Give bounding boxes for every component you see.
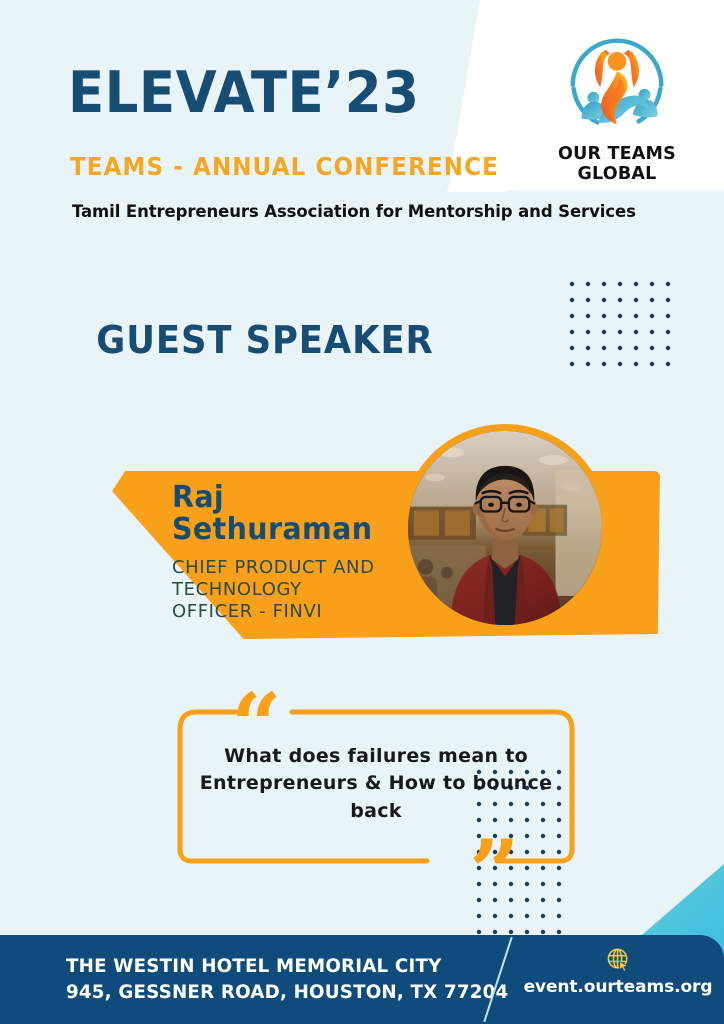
event-full-name: Tamil Entrepreneurs Association for Ment… (72, 202, 636, 221)
event-poster: ELEVATE’23 TEAMS - ANNUAL CONFERENCE Tam… (0, 0, 724, 1024)
speaker-last-name: Sethuraman (172, 512, 372, 547)
venue-name: THE WESTIN HOTEL MEMORIAL CITY (66, 955, 441, 977)
logo-text: OUR TEAMS GLOBAL (517, 144, 717, 184)
venue-address: THE WESTIN HOTEL MEMORIAL CITY 945, GESS… (66, 953, 508, 1005)
speaker-photo-image (408, 431, 602, 625)
website-url[interactable]: event.ourteams.org (518, 977, 718, 997)
quote-close-mark: ” (469, 828, 520, 916)
speaker-role: CHIEF PRODUCT AND TECHNOLOGY OFFICER - F… (172, 557, 387, 623)
our-teams-global-logo-icon (558, 24, 676, 142)
event-subtitle: TEAMS - ANNUAL CONFERENCE (70, 152, 499, 181)
guest-speaker-heading: GUEST SPEAKER (19, 318, 512, 362)
poster-footer: THE WESTIN HOTEL MEMORIAL CITY 945, GESS… (0, 935, 724, 1024)
speaker-first-name: Raj (172, 480, 224, 515)
footer-website-block[interactable]: event.ourteams.org (518, 947, 718, 997)
speaker-name: Raj Sethuraman (172, 482, 372, 547)
dot-grid-top-right (569, 281, 689, 381)
quote-text: What does failures mean to Entrepreneurs… (191, 743, 561, 825)
globe-cursor-icon (605, 947, 632, 974)
organization-logo: OUR TEAMS GLOBAL (517, 24, 717, 184)
speaker-portrait (401, 424, 609, 632)
event-title: ELEVATE’23 (68, 60, 419, 126)
venue-street: 945, GESSNER ROAD, HOUSTON, TX 77204 (66, 981, 508, 1003)
